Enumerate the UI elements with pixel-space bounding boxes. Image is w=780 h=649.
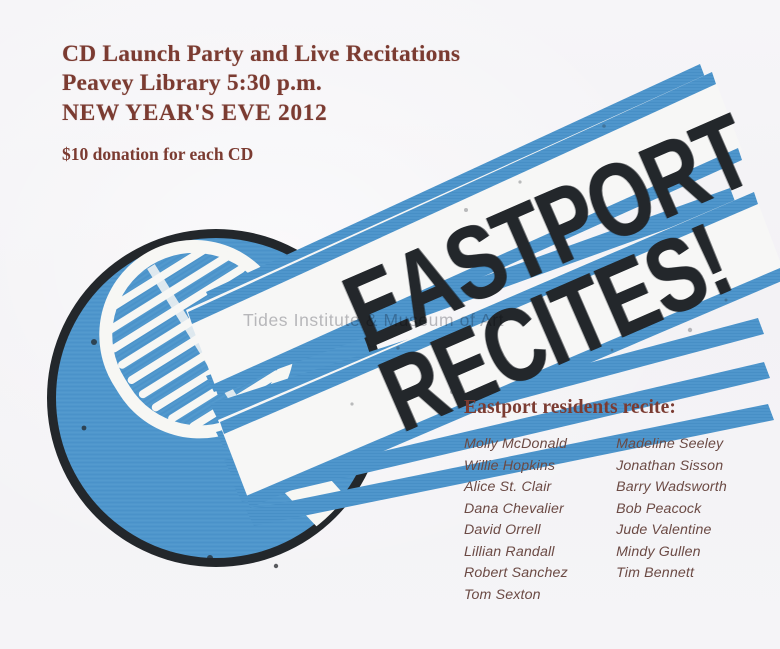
residents-panel: Eastport residents recite: Molly McDonal… [464,396,764,606]
list-item: Mindy Gullen [616,542,764,564]
headline-line-3: NEW YEAR'S EVE 2012 [62,98,532,128]
list-item: David Orrell [464,520,598,542]
list-item: Jude Valentine [616,520,764,542]
list-item: Lillian Randall [464,542,598,564]
list-item: Madeline Seeley [616,434,764,456]
headline-line-2: Peavey Library 5:30 p.m. [62,69,532,98]
list-item: Robert Sanchez [464,563,598,585]
residents-columns: Molly McDonald Willie Hopkins Alice St. … [464,434,764,606]
donation-note: $10 donation for each CD [62,142,532,166]
poster-canvas: CD Launch Party and Live Recitations Pea… [0,0,780,649]
residents-column-right: Madeline Seeley Jonathan Sisson Barry Wa… [616,434,764,606]
list-item: Dana Chevalier [464,499,598,521]
list-item: Tom Sexton [464,585,598,607]
list-item: Tim Bennett [616,563,764,585]
watermark-text: Tides Institute & Museum of Art [243,310,504,331]
list-item: Jonathan Sisson [616,456,764,478]
list-item: Molly McDonald [464,434,598,456]
list-item: Barry Wadsworth [616,477,764,499]
list-item: Alice St. Clair [464,477,598,499]
list-item: Willie Hopkins [464,456,598,478]
headline-block: CD Launch Party and Live Recitations Pea… [62,40,532,166]
residents-column-left: Molly McDonald Willie Hopkins Alice St. … [464,434,598,606]
headline-line-1: CD Launch Party and Live Recitations [62,40,532,69]
list-item: Bob Peacock [616,499,764,521]
residents-heading: Eastport residents recite: [464,396,764,420]
